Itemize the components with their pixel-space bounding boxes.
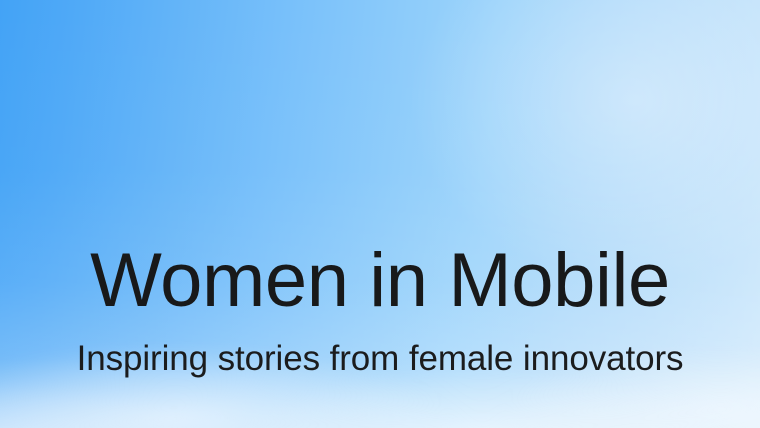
page-subtitle: Inspiring stories from female innovators — [77, 319, 684, 376]
page-title: Women in Mobile — [90, 243, 670, 319]
hero-content: Women in Mobile Inspiring stories from f… — [0, 0, 760, 428]
hero-banner: Women in Mobile Inspiring stories from f… — [0, 0, 760, 428]
